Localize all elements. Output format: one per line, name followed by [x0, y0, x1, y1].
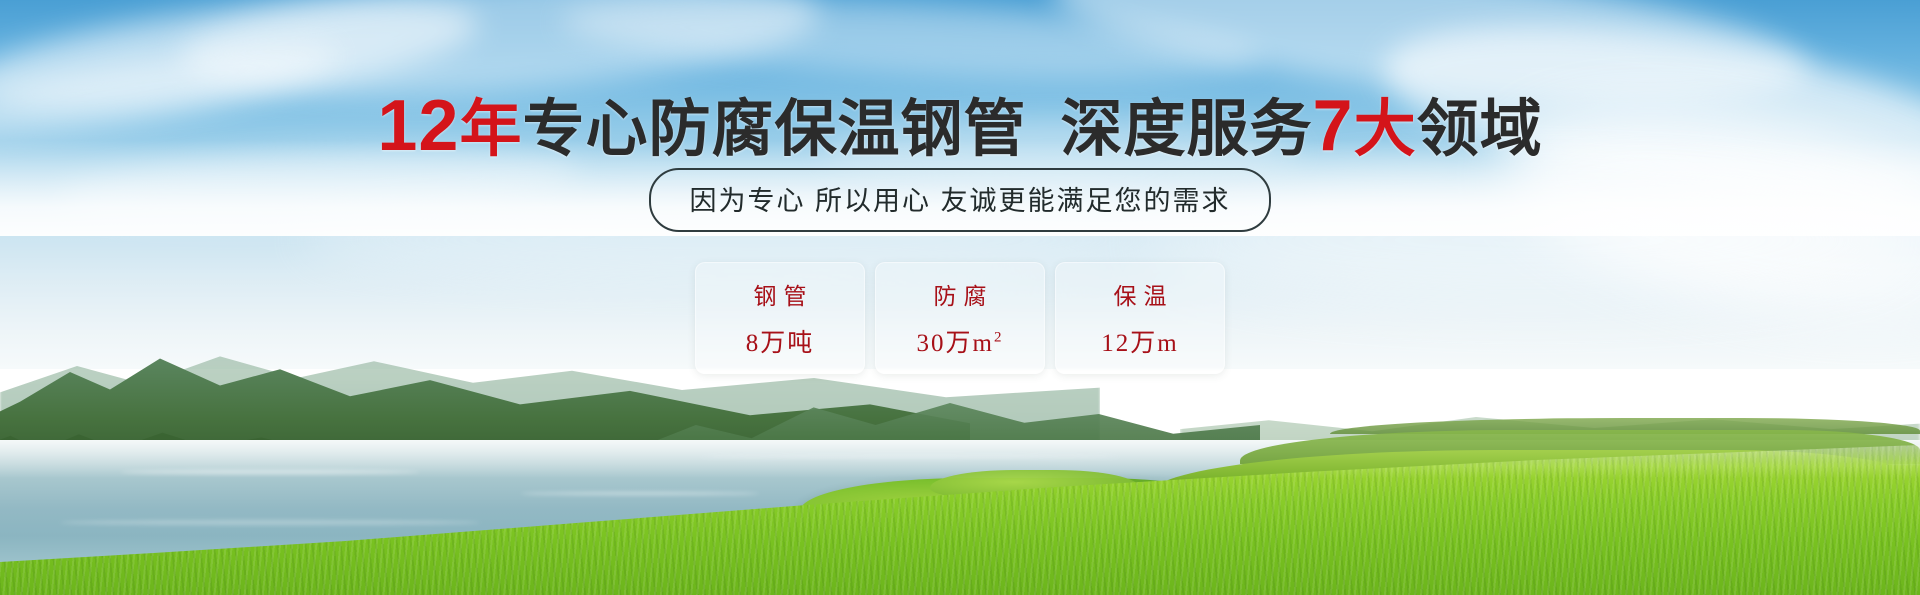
stat-card-insulation[interactable]: 保温 12万m [1055, 262, 1225, 374]
banner-subtitle-container: 因为专心 所以用心 友诚更能满足您的需求 [0, 168, 1920, 232]
stat-card-list: 钢管 8万吨 防腐 30万m2 保温 12万m [0, 262, 1920, 374]
banner-subtitle-pill: 因为专心 所以用心 友诚更能满足您的需求 [649, 168, 1270, 232]
stat-card-label: 防腐 [927, 277, 994, 311]
headline-fields-unit: 大 [1354, 95, 1417, 164]
headline-years-unit: 年 [459, 95, 522, 164]
banner-content: 12年专心防腐保温钢管深度服务7大领域 因为专心 所以用心 友诚更能满足您的需求… [0, 0, 1920, 595]
headline-main-text: 专心防腐保温钢管 [523, 95, 1027, 164]
stat-card-value-text: 30万m [917, 330, 994, 357]
stat-card-value-superscript: 2 [994, 330, 1004, 346]
stat-card-value: 30万m2 [917, 323, 1004, 359]
headline-fields-text: 领域 [1417, 95, 1543, 164]
stat-card-value: 12万m [1101, 323, 1178, 359]
stat-card-value-text: 12万m [1101, 330, 1178, 357]
stat-card-value: 8万吨 [746, 323, 815, 359]
stat-card-anticorrosion[interactable]: 防腐 30万m2 [875, 262, 1045, 374]
banner-headline: 12年专心防腐保温钢管深度服务7大领域 [0, 78, 1920, 168]
headline-fields-number: 7 [1313, 86, 1354, 166]
stat-card-label: 钢管 [747, 277, 814, 311]
stat-card-value-text: 8万吨 [746, 330, 815, 357]
hero-banner: 12年专心防腐保温钢管深度服务7大领域 因为专心 所以用心 友诚更能满足您的需求… [0, 0, 1920, 595]
headline-service-text: 深度服务 [1061, 95, 1313, 164]
stat-card-label: 保温 [1107, 277, 1174, 311]
stat-card-steel-pipe[interactable]: 钢管 8万吨 [695, 262, 865, 374]
headline-years-number: 12 [377, 86, 459, 166]
